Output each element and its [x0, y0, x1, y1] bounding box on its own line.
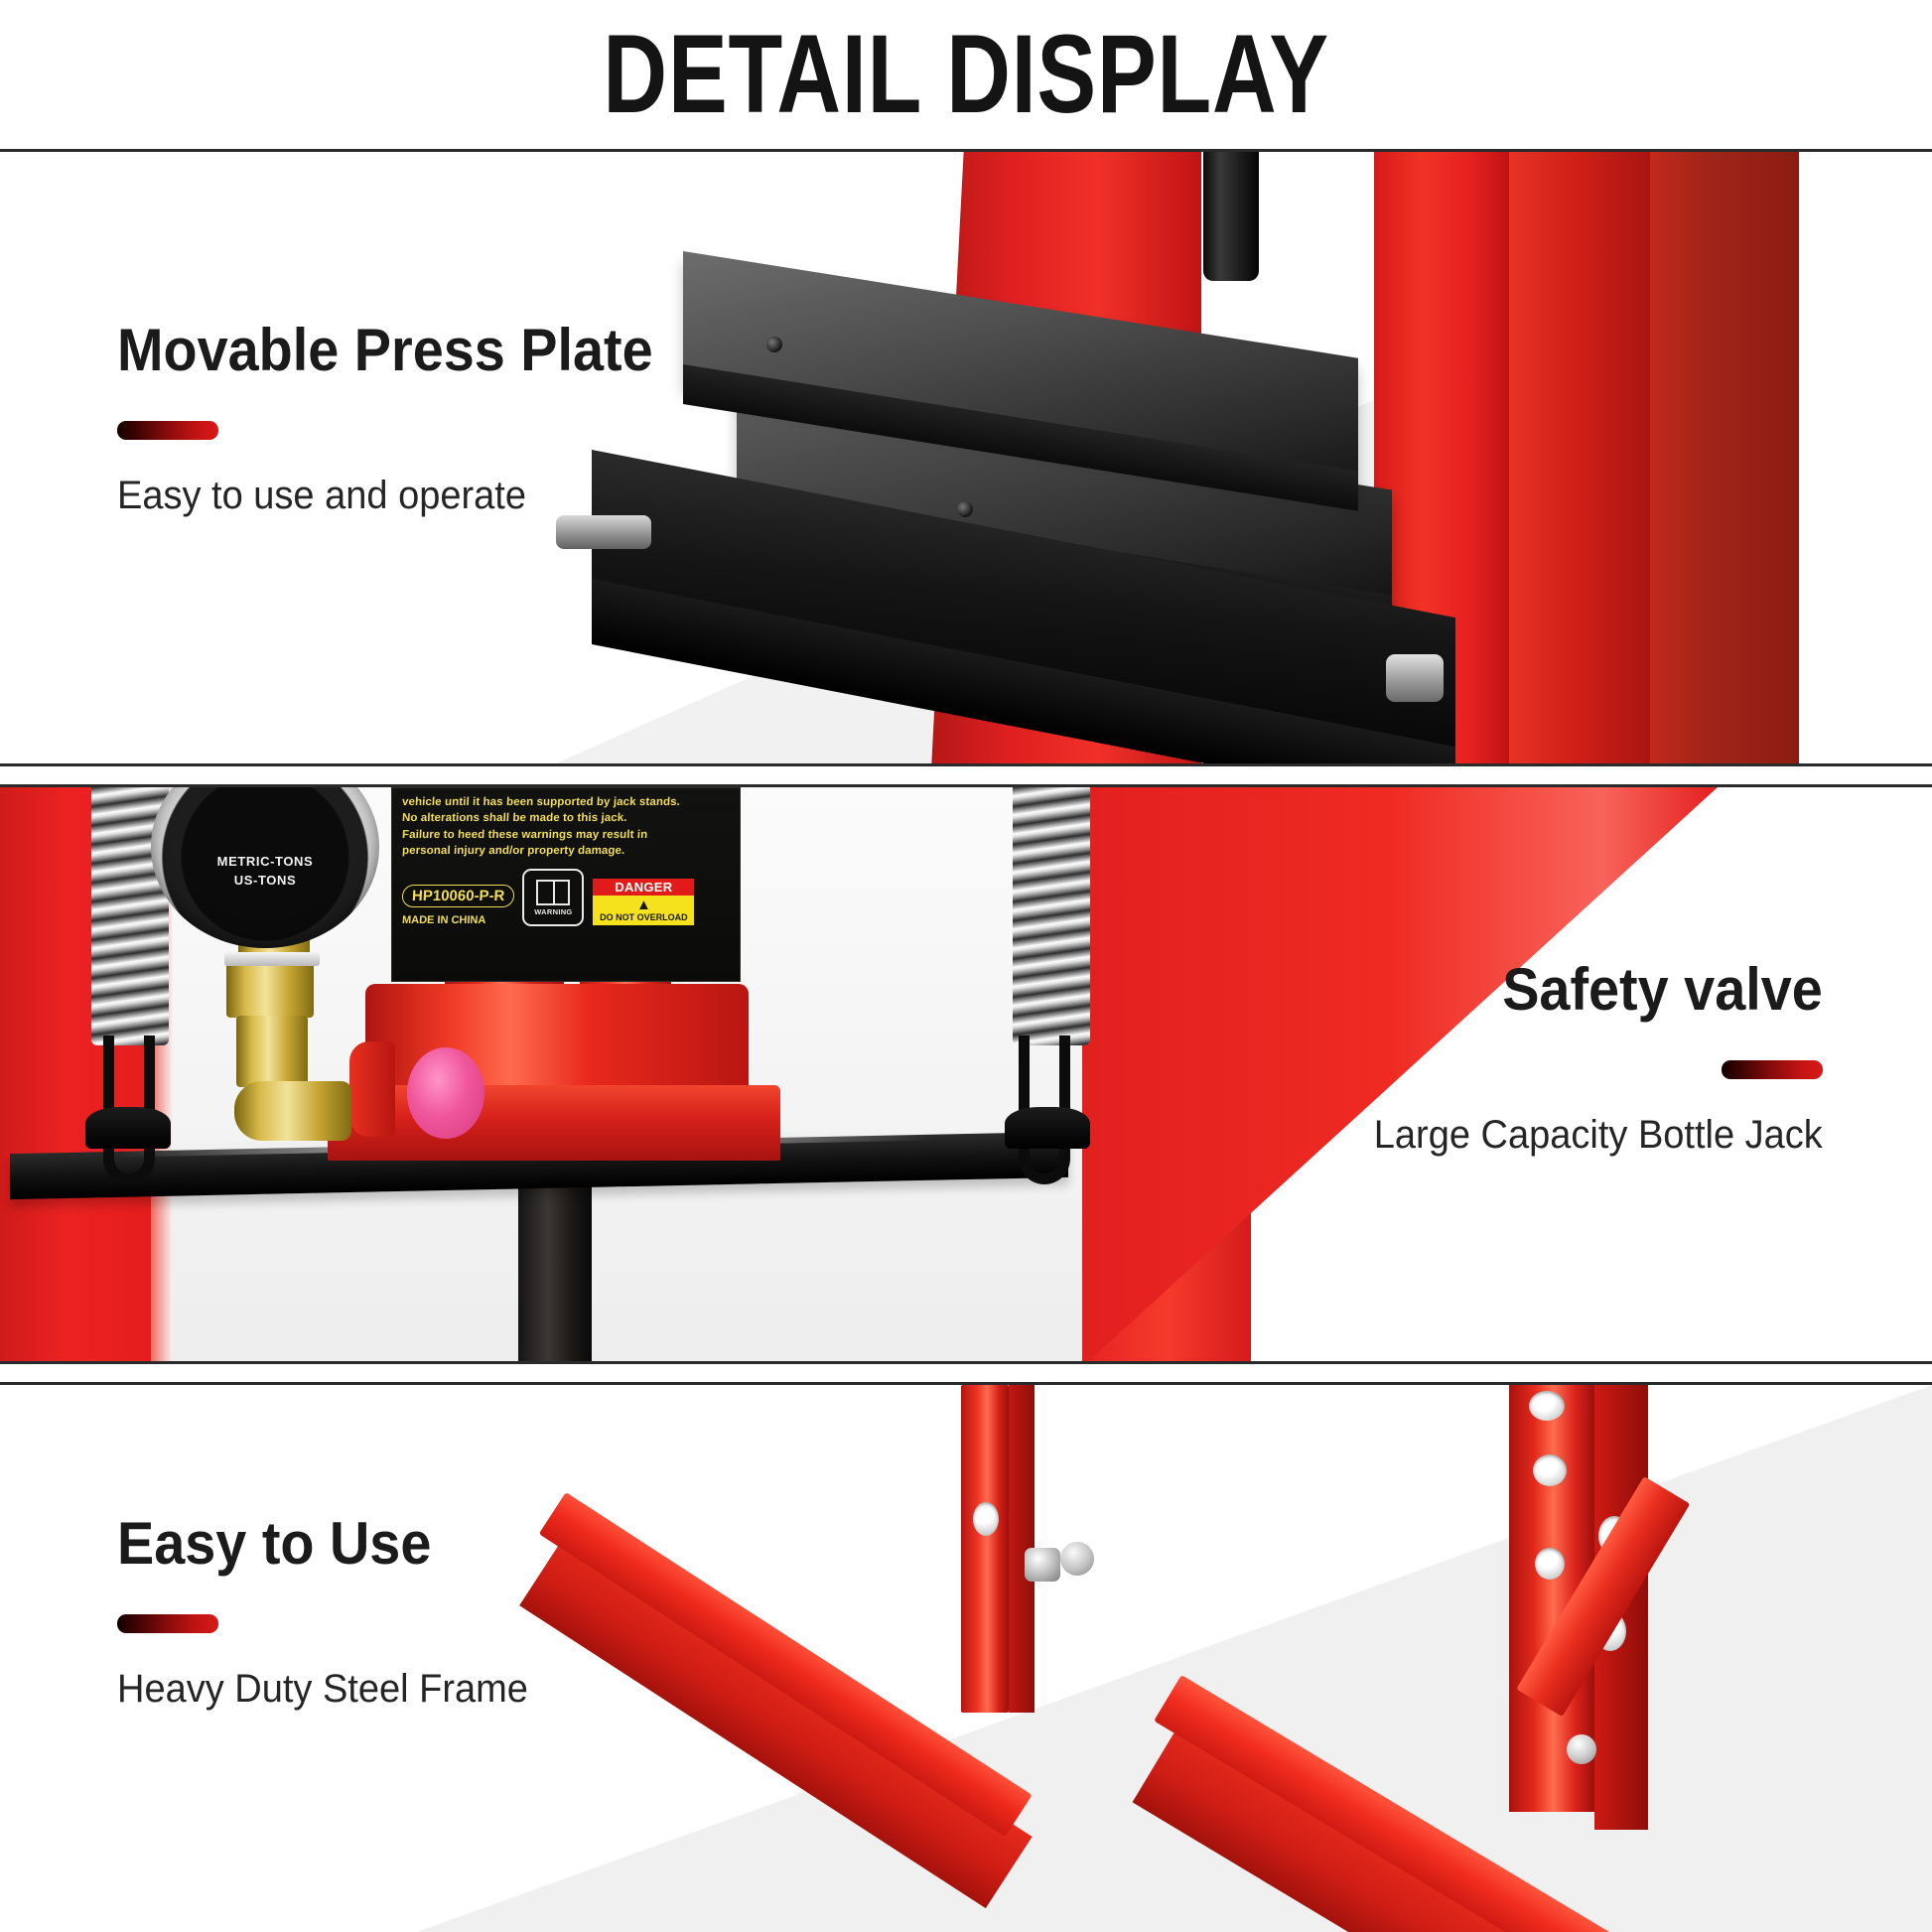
hex-bolt-left [1025, 1548, 1060, 1582]
danger-badge-title: DANGER [593, 879, 694, 896]
bed-support-pin [556, 515, 651, 549]
panel-1-heading: Movable Press Plate [117, 319, 653, 381]
brass-elbow-fitting [234, 1081, 351, 1141]
jack-support-post [518, 1184, 592, 1364]
frame-upright-left [961, 1385, 1009, 1713]
warning-line-3: Failure to heed these warnings may resul… [402, 827, 731, 843]
adjustment-hole [1533, 1454, 1567, 1486]
panel-1-text-block: Movable Press Plate Easy to use and oper… [117, 319, 693, 517]
panel-3-subtitle: Heavy Duty Steel Frame [117, 1667, 528, 1711]
adjustment-hole [973, 1502, 999, 1536]
jack-origin-text: MADE IN CHINA [402, 914, 515, 926]
danger-badge-text: DO NOT OVERLOAD [600, 912, 688, 922]
detail-display-page: DETAIL DISPLAY Movable Press Plate [0, 0, 1932, 1932]
gauge-unit-metric: METRIC-TONS [151, 853, 379, 872]
spring-anchor-right [1005, 1107, 1090, 1149]
hex-nut-left [1060, 1542, 1094, 1576]
warning-triangle-icon: ▲ [593, 897, 694, 912]
panel-2-heading: Safety valve [1383, 958, 1823, 1021]
plate-screw-icon [957, 501, 973, 517]
panel-3-text-block: Easy to Use Heavy Duty Steel Frame [117, 1512, 550, 1711]
danger-badge: DANGER ▲ DO NOT OVERLOAD [592, 878, 695, 926]
panel-2-accent-bar [1722, 1060, 1823, 1079]
gauge-unit-labels: METRIC-TONS US-TONS [151, 853, 379, 891]
panel-2-subtitle: Large Capacity Bottle Jack [1374, 1113, 1823, 1157]
press-frame-column-red-dark [1650, 152, 1799, 766]
bottle-jack-base [328, 1085, 780, 1161]
feature-panel-movable-press-plate: Movable Press Plate Easy to use and oper… [0, 149, 1932, 766]
press-plate-photo [556, 152, 1932, 763]
brass-hex-nut [226, 962, 314, 1018]
safety-valve-lever [349, 1041, 395, 1137]
bed-hex-bolt [1386, 654, 1444, 702]
press-frame-column-red-3 [1509, 152, 1654, 766]
panel-1-accent-bar [117, 421, 218, 440]
steel-frame-base-photo [417, 1385, 1932, 1932]
plate-screw-icon [766, 337, 782, 352]
photo-right-margin [1799, 152, 1932, 766]
hex-bolt-right [1567, 1734, 1596, 1764]
return-spring-right [1013, 784, 1090, 1045]
bottle-jack-photo: METRIC-TONS US-TONS vehicle until it has… [0, 787, 1251, 1361]
panel-3-accent-bar [117, 1614, 218, 1633]
open-book-icon [536, 880, 570, 905]
read-manual-icon: WARNING [522, 869, 584, 926]
spring-anchor-left [85, 1107, 171, 1149]
warning-line-4: personal injury and/or property damage. [402, 843, 731, 859]
brass-coupler [236, 1016, 308, 1087]
gauge-unit-us: US-TONS [151, 872, 379, 891]
page-title: DETAIL DISPLAY [603, 19, 1328, 130]
manual-icon-label: WARNING [534, 907, 572, 916]
warning-line-2: No alterations shall be made to this jac… [402, 810, 731, 826]
steel-ferrule [224, 952, 320, 966]
panel-1-subtitle: Easy to use and operate [117, 474, 664, 517]
adjustment-hole [1529, 1391, 1565, 1421]
hydraulic-ram-cylinder [1203, 152, 1259, 281]
panel-2-text-block: Safety valve Large Capacity Bottle Jack [1350, 958, 1823, 1157]
safety-valve-knob [407, 1047, 484, 1139]
jack-model-number: HP10060-P-R [401, 885, 515, 907]
danger-badge-body: ▲ DO NOT OVERLOAD [593, 896, 694, 925]
page-title-bar: DETAIL DISPLAY [0, 0, 1932, 149]
feature-panel-safety-valve: METRIC-TONS US-TONS vehicle until it has… [0, 784, 1932, 1364]
feature-panel-easy-to-use: Easy to Use Heavy Duty Steel Frame [0, 1382, 1932, 1932]
jack-warning-label: vehicle until it has been supported by j… [391, 787, 741, 982]
panel-3-heading: Easy to Use [117, 1512, 519, 1575]
adjustment-hole [1535, 1548, 1565, 1580]
warning-line-1: vehicle until it has been supported by j… [402, 794, 731, 810]
